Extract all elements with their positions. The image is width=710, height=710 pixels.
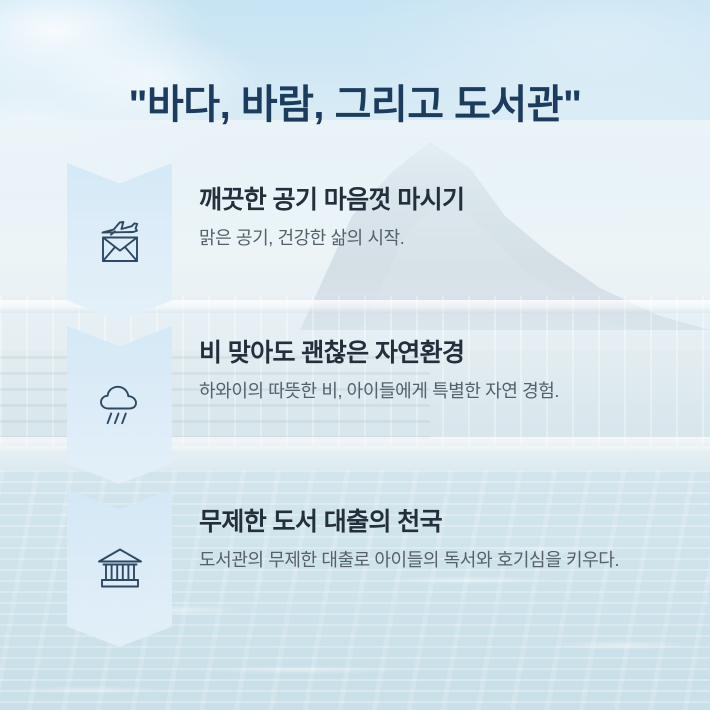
poster-content: "바다, 바람, 그리고 도서관" <box>0 0 710 710</box>
feature-description: 맑은 공기, 건강한 삶의 시작. <box>199 225 672 253</box>
rain-cloud-icon <box>67 326 172 484</box>
feature-title: 비 맞아도 괜찮은 자연환경 <box>199 338 672 369</box>
feature-list: 깨끗한 공기 마음껏 마시기 맑은 공기, 건강한 삶의 시작. 비 맞아도 <box>0 163 710 652</box>
airmail-envelope-icon <box>67 163 172 321</box>
poster-headline: "바다, 바람, 그리고 도서관" <box>0 72 710 130</box>
feature-description: 하와이의 따뜻한 비, 아이들에게 특별한 자연 경험. <box>199 378 672 406</box>
feature-text: 비 맞아도 괜찮은 자연환경 하와이의 따뜻한 비, 아이들에게 특별한 자연 … <box>199 326 672 496</box>
feature-item: 비 맞아도 괜찮은 자연환경 하와이의 따뜻한 비, 아이들에게 특별한 자연 … <box>0 326 710 484</box>
classical-building-icon <box>67 489 172 647</box>
feature-title: 깨끗한 공기 마음껏 마시기 <box>199 185 672 216</box>
feature-text: 깨끗한 공기 마음껏 마시기 맑은 공기, 건강한 삶의 시작. <box>199 163 672 343</box>
feature-text: 무제한 도서 대출의 천국 도서관의 무제한 대출로 아이들의 독서와 호기심을… <box>199 489 672 665</box>
feature-item: 무제한 도서 대출의 천국 도서관의 무제한 대출로 아이들의 독서와 호기심을… <box>0 489 710 647</box>
feature-item: 깨끗한 공기 마음껏 마시기 맑은 공기, 건강한 삶의 시작. <box>0 163 710 321</box>
feature-description: 도서관의 무제한 대출로 아이들의 독서와 호기심을 키우다. <box>199 547 672 575</box>
feature-title: 무제한 도서 대출의 천국 <box>199 507 672 538</box>
poster-canvas: "바다, 바람, 그리고 도서관" <box>0 0 710 710</box>
